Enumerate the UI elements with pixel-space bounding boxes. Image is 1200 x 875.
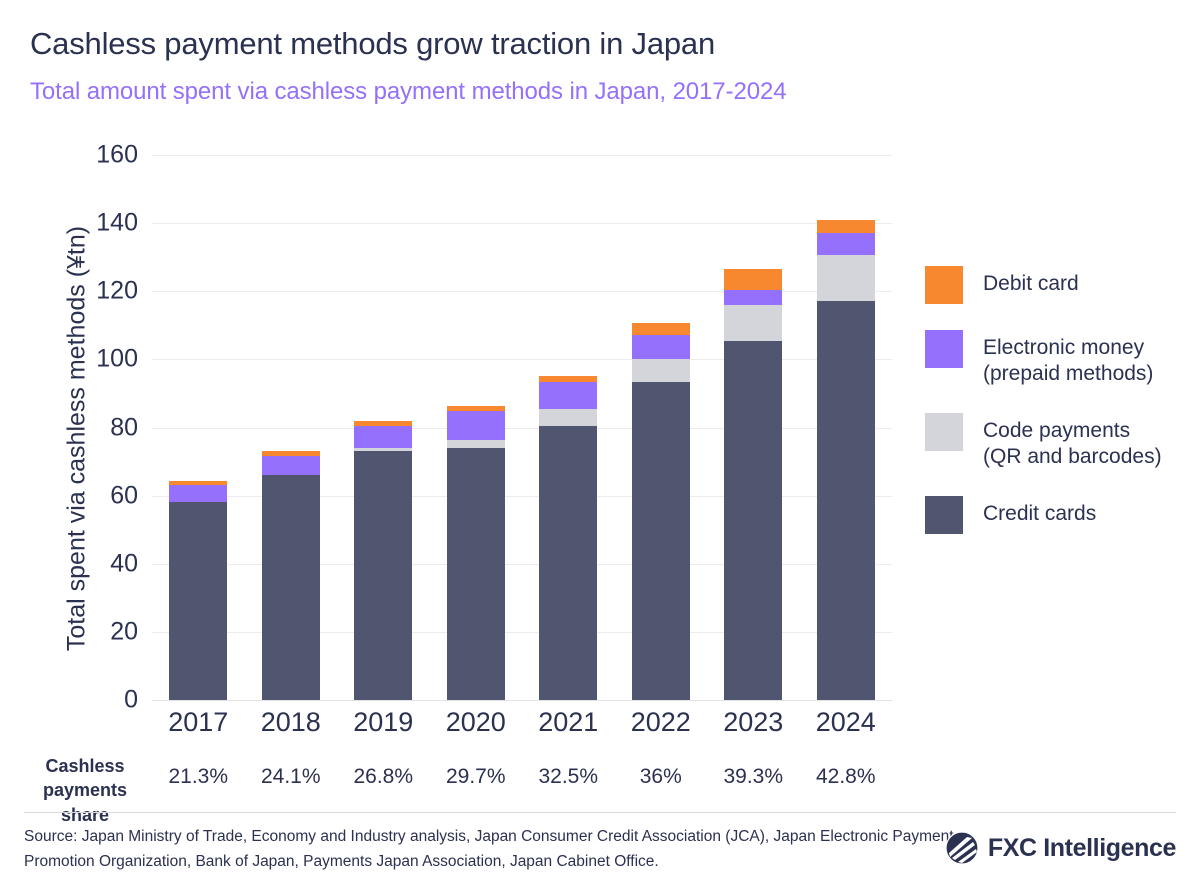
legend-swatch-icon <box>925 496 963 534</box>
bar-segment[interactable] <box>724 290 782 305</box>
bar-segment[interactable] <box>817 220 875 234</box>
page-subtitle: Total amount spent via cashless payment … <box>30 78 786 106</box>
bar-segment[interactable] <box>169 485 227 502</box>
bar-segment[interactable] <box>724 305 782 341</box>
fxc-globe-icon <box>945 831 979 865</box>
fxc-intelligence-logo: FXC Intelligence <box>945 831 1176 865</box>
bar-segment[interactable] <box>632 323 690 335</box>
legend-swatch-icon <box>925 413 963 451</box>
bar-segment[interactable] <box>354 451 412 700</box>
bar-segment[interactable] <box>447 440 505 448</box>
bar-segment[interactable] <box>632 359 690 381</box>
bar-group[interactable] <box>724 269 782 700</box>
bar-segment[interactable] <box>447 448 505 700</box>
chart-page: Cashless payment methods grow traction i… <box>0 0 1200 875</box>
plot-area <box>152 155 892 700</box>
bar-segment[interactable] <box>724 269 782 289</box>
page-title: Cashless payment methods grow traction i… <box>30 26 715 62</box>
bar-group[interactable] <box>632 323 690 700</box>
legend-item[interactable]: Debit card <box>925 266 1195 304</box>
y-tick-label: 60 <box>8 481 138 510</box>
chart-legend: Debit cardElectronic money (prepaid meth… <box>925 266 1195 560</box>
bar-segment[interactable] <box>354 426 412 448</box>
bar-segment[interactable] <box>169 502 227 700</box>
bar-segment[interactable] <box>817 255 875 301</box>
x-tick-label: 2024 <box>791 707 901 738</box>
bar-group[interactable] <box>817 220 875 700</box>
bar-segment[interactable] <box>539 426 597 700</box>
bar-segment[interactable] <box>447 411 505 440</box>
y-tick-label: 120 <box>8 277 138 306</box>
bar-segment[interactable] <box>817 233 875 255</box>
source-note: Source: Japan Ministry of Trade, Economy… <box>24 824 954 874</box>
y-tick-label: 20 <box>8 617 138 646</box>
legend-item-label: Electronic money (prepaid methods) <box>983 330 1153 387</box>
y-tick-label: 140 <box>8 209 138 238</box>
fxc-logo-text: FXC Intelligence <box>988 834 1176 863</box>
x-axis-tick-labels: 20172018201920202021202220232024 <box>152 707 892 747</box>
legend-item-label: Credit cards <box>983 496 1096 527</box>
legend-swatch-icon <box>925 266 963 304</box>
footer-divider <box>24 812 1176 813</box>
bar-segment[interactable] <box>262 456 320 475</box>
cashless-share-row-label: Cashless payments share <box>18 754 152 827</box>
legend-item[interactable]: Electronic money (prepaid methods) <box>925 330 1195 387</box>
legend-item-label: Code payments (QR and barcodes) <box>983 413 1162 470</box>
legend-swatch-icon <box>925 330 963 368</box>
y-tick-label: 100 <box>8 345 138 374</box>
cashless-share-value: 42.8% <box>791 765 901 789</box>
bar-series-container <box>152 155 892 700</box>
bar-segment[interactable] <box>539 409 597 425</box>
y-tick-label: 0 <box>8 686 138 715</box>
bar-group[interactable] <box>447 406 505 700</box>
cashless-share-values: 21.3%24.1%26.8%29.7%32.5%36%39.3%42.8% <box>152 765 892 799</box>
bar-segment[interactable] <box>632 335 690 360</box>
bar-group[interactable] <box>539 376 597 700</box>
y-tick-label: 40 <box>8 549 138 578</box>
bar-segment[interactable] <box>632 382 690 700</box>
bar-segment[interactable] <box>724 341 782 700</box>
bar-segment[interactable] <box>817 301 875 700</box>
y-tick-label: 160 <box>8 141 138 170</box>
bar-group[interactable] <box>169 481 227 700</box>
bar-group[interactable] <box>354 421 412 700</box>
bar-segment[interactable] <box>539 382 597 409</box>
gridline <box>152 700 892 701</box>
legend-item[interactable]: Code payments (QR and barcodes) <box>925 413 1195 470</box>
bar-group[interactable] <box>262 451 320 700</box>
y-tick-label: 80 <box>8 413 138 442</box>
bar-segment[interactable] <box>262 475 320 700</box>
legend-item-label: Debit card <box>983 266 1079 297</box>
legend-item[interactable]: Credit cards <box>925 496 1195 534</box>
